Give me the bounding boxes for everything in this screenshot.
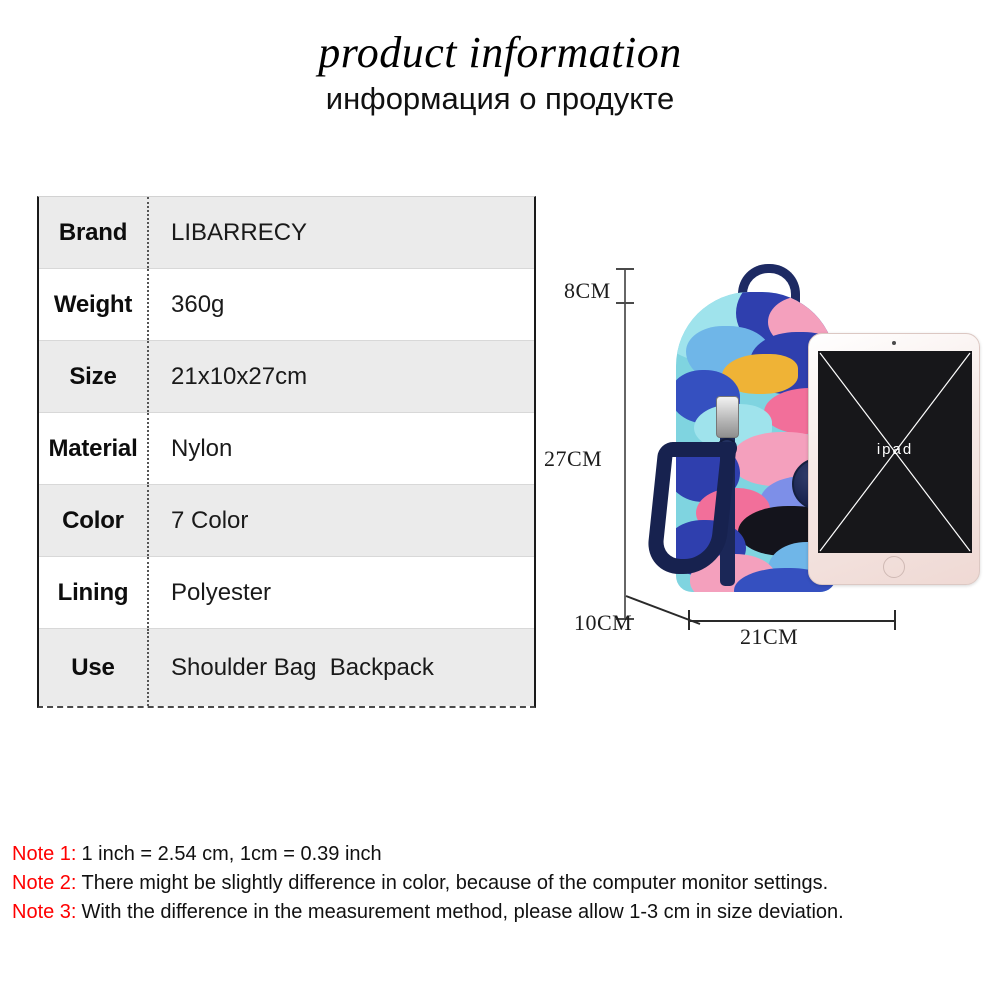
spec-label-use: Use — [39, 654, 147, 682]
height-measure-line — [624, 268, 626, 620]
width-tick-right — [894, 610, 896, 630]
notes-section: Note 1:1 inch = 2.54 cm, 1cm = 0.39 inch… — [12, 840, 992, 927]
spec-label-lining: Lining — [39, 579, 147, 607]
note-tag: Note 3: — [12, 901, 76, 923]
table-row: Brand LIBARRECY — [39, 197, 534, 269]
note-text: With the difference in the measurement m… — [81, 901, 843, 923]
spec-value-weight: 360g — [149, 291, 534, 319]
dimension-label-height-top: 8CM — [564, 278, 611, 304]
shoulder-strap — [646, 432, 732, 592]
product-photo-figure: 8CM 27CM 10CM 21CM J — [540, 250, 1000, 650]
table-row: Material Nylon — [39, 413, 534, 485]
width-measure-line — [688, 620, 896, 622]
note-line: Note 3:With the difference in the measur… — [12, 898, 992, 927]
table-row: Size 21x10x27cm — [39, 341, 534, 413]
page-header: product information информация о продукт… — [0, 28, 1000, 118]
height-tick-top — [616, 268, 634, 270]
spec-value-color: 7 Color — [149, 507, 534, 535]
note-tag: Note 2: — [12, 872, 76, 894]
table-row: Lining Polyester — [39, 557, 534, 629]
ipad-screen: ipad — [818, 351, 972, 553]
spec-label-material: Material — [39, 435, 147, 463]
spec-value-material: Nylon — [149, 435, 534, 463]
spec-label-brand: Brand — [39, 219, 147, 247]
spec-label-size: Size — [39, 363, 147, 391]
dimension-label-width: 21CM — [740, 624, 798, 650]
page-title-en: product information — [0, 28, 1000, 78]
page-title-ru: информация о продукте — [0, 80, 1000, 118]
table-row: Color 7 Color — [39, 485, 534, 557]
dimension-label-height-total: 27CM — [544, 446, 602, 472]
table-row: Weight 360g — [39, 269, 534, 341]
note-line: Note 1:1 inch = 2.54 cm, 1cm = 0.39 inch — [12, 840, 992, 869]
spec-value-brand: LIBARRECY — [149, 219, 534, 247]
spec-label-color: Color — [39, 507, 147, 535]
home-button-icon — [883, 556, 905, 578]
spec-value-use: Shoulder Bag Backpack — [149, 654, 534, 682]
ipad-scale-reference: ipad — [808, 333, 980, 585]
specification-table: Brand LIBARRECY Weight 360g Size 21x10x2… — [37, 196, 536, 708]
note-text: 1 inch = 2.54 cm, 1cm = 0.39 inch — [81, 843, 381, 865]
note-line: Note 2:There might be slightly differenc… — [12, 869, 992, 898]
spec-value-lining: Polyester — [149, 579, 534, 607]
note-text: There might be slightly difference in co… — [81, 872, 828, 894]
note-tag: Note 1: — [12, 843, 76, 865]
spec-value-size: 21x10x27cm — [149, 363, 534, 391]
front-camera-icon — [892, 341, 896, 345]
ipad-label: ipad — [818, 441, 972, 458]
dimension-label-depth: 10CM — [574, 610, 632, 636]
table-row: Use Shoulder Bag Backpack — [39, 629, 534, 706]
spec-label-weight: Weight — [39, 291, 147, 319]
height-tick-mid — [616, 302, 634, 304]
